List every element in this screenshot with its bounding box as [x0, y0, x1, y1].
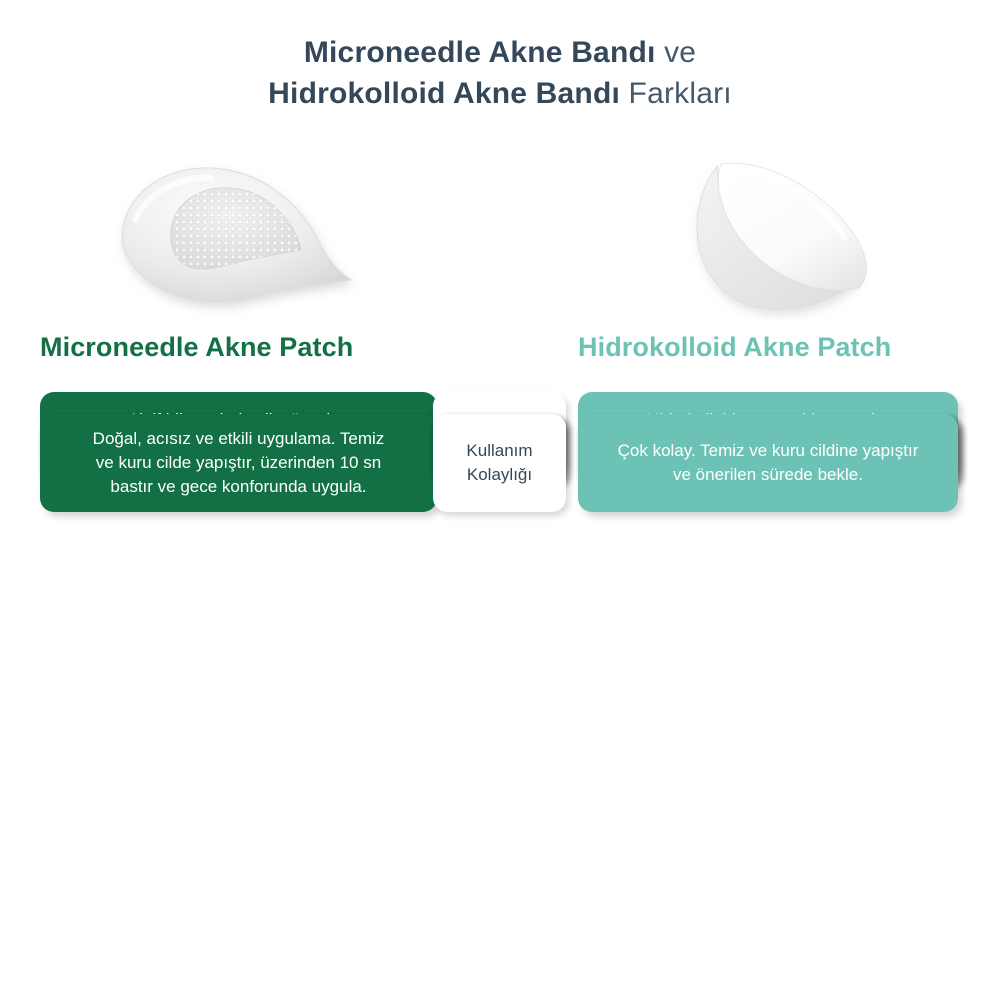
cell-left-value: Doğal, acısız ve etkili uygulama. Temiz …	[40, 414, 437, 512]
comparison-table: Aktif bileşenlerin cilt yüzeyine iletilm…	[0, 392, 1000, 414]
cell-right-value: Çok kolay. Temiz ve kuru cildine yapıştı…	[578, 414, 958, 512]
title-line-2: Hidrokolloid Akne Bandı Farkları	[0, 73, 1000, 114]
title-line-1-strong: Microneedle Akne Bandı	[304, 36, 656, 69]
cell-criteria-label: Kullanım Kolaylığı	[433, 414, 566, 512]
title-line-1-light: ve	[656, 36, 697, 69]
microneedle-patch-photo	[105, 150, 365, 320]
title-line-1: Microneedle Akne Bandı ve	[0, 32, 1000, 73]
title-line-2-strong: Hidrokolloid Akne Bandı	[268, 77, 620, 110]
page-title: Microneedle Akne Bandı ve Hidrokolloid A…	[0, 32, 1000, 115]
column-header-hidrokolloid: Hidrokolloid Akne Patch	[578, 332, 891, 363]
title-line-2-light: Farkları	[620, 77, 732, 110]
microneedle-patch-icon	[105, 150, 365, 320]
hydrocolloid-patch-photo	[655, 150, 915, 320]
product-images	[0, 150, 1000, 320]
column-header-microneedle: Microneedle Akne Patch	[40, 332, 353, 363]
hydrocolloid-patch-icon	[655, 150, 915, 320]
